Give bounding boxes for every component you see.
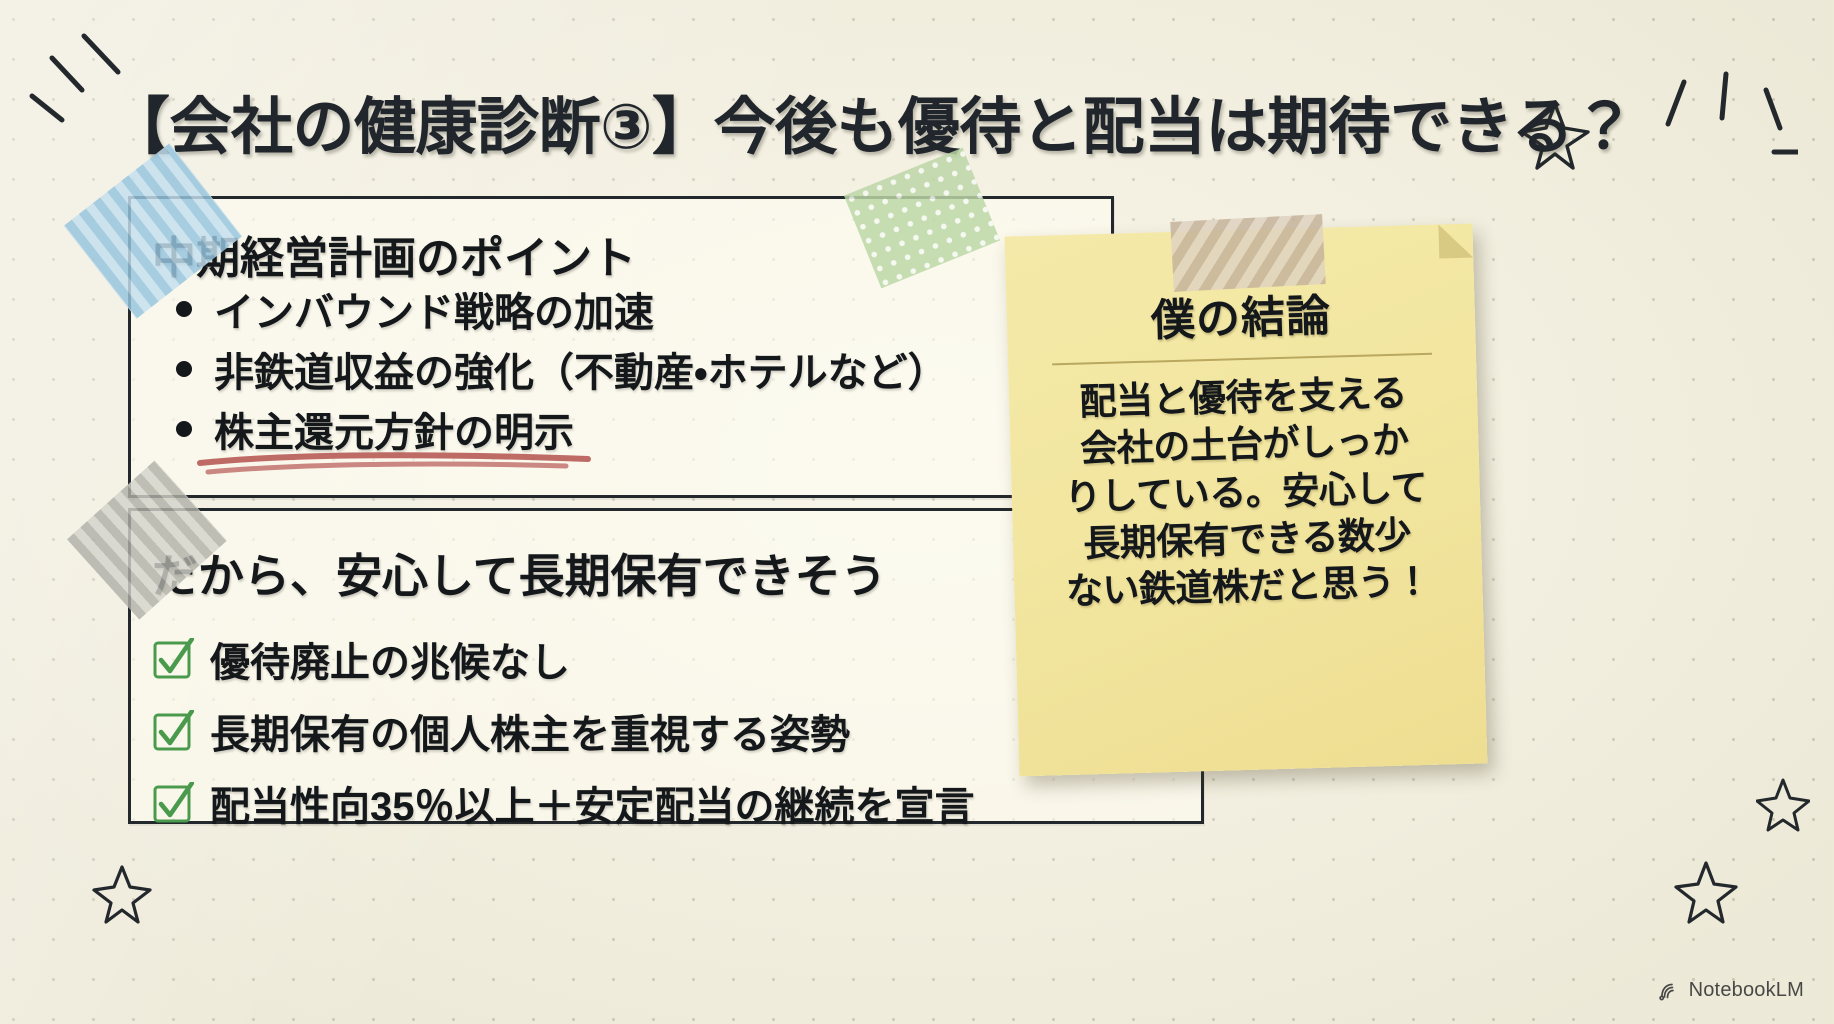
hold-check-list: 優待廃止の兆候なし 長期保有の個人株主を重視する姿勢 配当性向35％以上＋安定配… <box>152 630 975 846</box>
bullet-dot-icon <box>176 301 192 317</box>
star-sparkle-icon <box>1756 776 1810 832</box>
conclusion-sticky-note: 僕の結論 配当と優待を支える 会社の土台がしっか りしている。安心して 長期保有… <box>1005 224 1488 777</box>
bullet-dot-icon <box>176 361 192 377</box>
star-sparkle-icon <box>92 862 152 924</box>
bullet-dot-icon <box>176 421 192 437</box>
check-label: 配当性向35％以上＋安定配当の継続を宣言 <box>210 774 975 832</box>
list-item: 非鉄道収益の強化（不動産・ホテルなど） <box>176 348 948 398</box>
notebooklm-watermark: NotebookLM <box>1659 979 1804 1002</box>
sticky-note-body: 配当と優待を支える 会社の土台がしっか りしている。安心して 長期保有できる数少… <box>1027 368 1465 617</box>
list-item: インバウンド戦略の加速 <box>176 288 948 338</box>
watermark-label: NotebookLM <box>1689 979 1804 1002</box>
star-sparkle-icon <box>1674 858 1738 924</box>
bullet-label: 非鉄道収益の強化（不動産・ホテルなど） <box>214 348 948 398</box>
list-item: 優待廃止の兆候なし <box>152 630 975 688</box>
checkbox-checked-icon[interactable] <box>152 638 194 680</box>
slide-title: 【会社の健康診断③】今後も優待と配当は期待できる？ <box>108 76 1528 166</box>
speed-lines-icon <box>1648 68 1798 198</box>
list-item: 配当性向35％以上＋安定配当の継続を宣言 <box>152 774 975 832</box>
bullet-label: インバウンド戦略の加速 <box>214 288 654 338</box>
sticky-note-divider <box>1052 353 1432 366</box>
slide-canvas: 【会社の健康診断③】今後も優待と配当は期待できる？ 中期経営計画のポイント イン… <box>0 0 1834 1024</box>
check-label: 優待廃止の兆候なし <box>210 630 570 688</box>
sticky-note-content: 僕の結論 配当と優待を支える 会社の土台がしっか りしている。安心して 長期保有… <box>1005 224 1488 777</box>
checkbox-checked-icon[interactable] <box>152 710 194 752</box>
red-underline-mark <box>196 450 596 478</box>
checkbox-checked-icon[interactable] <box>152 782 194 824</box>
washi-tape-tan <box>1170 214 1325 292</box>
plan-bullet-list: インバウンド戦略の加速 非鉄道収益の強化（不動産・ホテルなど） 株主還元方針の明… <box>176 288 948 468</box>
hold-heading: だから、安心して長期保有できそう <box>152 540 887 606</box>
check-label: 長期保有の個人株主を重視する姿勢 <box>210 702 850 760</box>
list-item: 長期保有の個人株主を重視する姿勢 <box>152 702 975 760</box>
notebooklm-logo-icon <box>1659 980 1681 1002</box>
